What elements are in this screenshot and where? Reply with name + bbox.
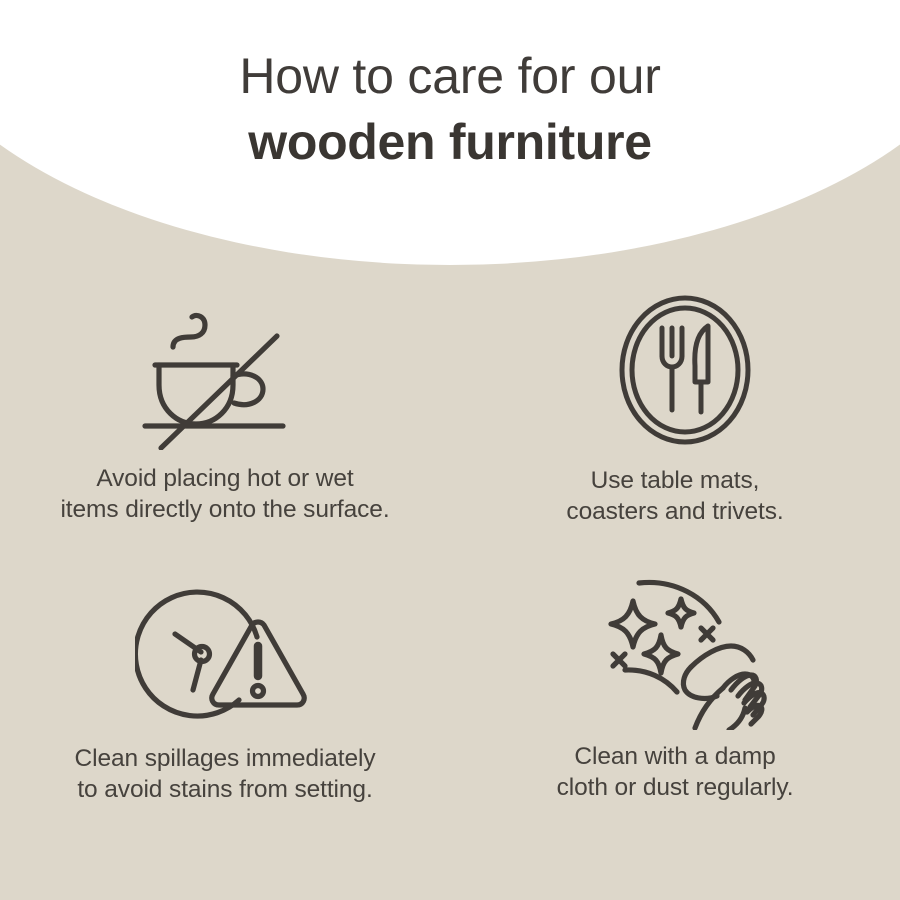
tip-caption: Avoid placing hot or wet items directly … (60, 463, 389, 525)
no-hot-drink-icon (137, 282, 317, 457)
tip-card-clean-spillages: Clean spillages immediately to avoid sta… (0, 562, 450, 842)
hand-wipe-sparkle-icon (595, 562, 775, 737)
tip-card-avoid-hot-wet: Avoid placing hot or wet items directly … (0, 282, 450, 562)
tip-caption-line-1: Clean spillages immediately (75, 743, 376, 774)
plate-cutlery-icon (610, 282, 760, 457)
tip-caption-line-2: coasters and trivets. (566, 496, 783, 527)
tip-caption: Clean with a damp cloth or dust regularl… (557, 741, 794, 803)
title-line-2: wooden furniture (0, 112, 900, 172)
tip-caption-line-2: items directly onto the surface. (60, 494, 389, 525)
tip-caption-line-2: cloth or dust regularly. (557, 772, 794, 803)
page-title: How to care for our wooden furniture (0, 46, 900, 172)
care-instructions-poster: How to care for our wooden furniture (0, 0, 900, 900)
tip-caption: Use table mats, coasters and trivets. (566, 465, 783, 527)
tip-caption: Clean spillages immediately to avoid sta… (75, 743, 376, 805)
tips-grid: Avoid placing hot or wet items directly … (0, 282, 900, 882)
tip-card-table-mats: Use table mats, coasters and trivets. (450, 282, 900, 562)
tip-caption-line-1: Use table mats, (566, 465, 783, 496)
tip-caption-line-1: Avoid placing hot or wet (60, 463, 389, 494)
tip-caption-line-1: Clean with a damp (557, 741, 794, 772)
title-line-1: How to care for our (0, 46, 900, 106)
clock-warning-icon (135, 562, 311, 737)
tip-caption-line-2: to avoid stains from setting. (75, 774, 376, 805)
tip-card-damp-cloth: Clean with a damp cloth or dust regularl… (450, 562, 900, 842)
